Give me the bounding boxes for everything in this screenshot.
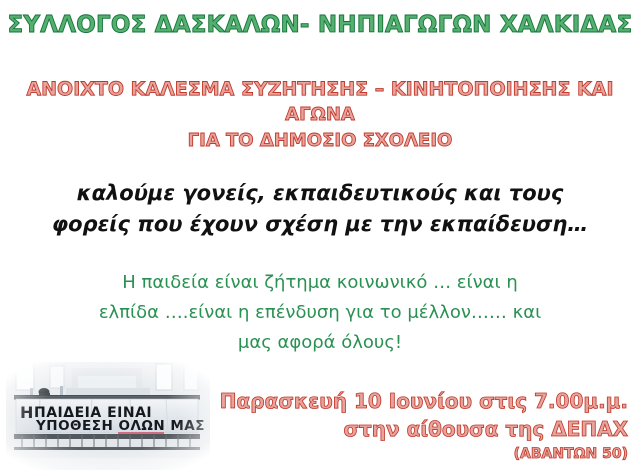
statement-text: Η παιδεία είναι ζήτημα κοινωνικό … είναι…	[0, 268, 640, 358]
event-venue: στην αίθουσα της ΔΕΠΑΧ	[208, 415, 628, 443]
event-details: Παρασκευή 10 Ιουνίου στις 7.00μ.μ. στην …	[208, 388, 628, 465]
organization-title: ΣΥΛΛΟΓΟΣ ΔΑΣΚΑΛΩΝ- ΝΗΠΙΑΓΩΓΩΝ ΧΑΛΚΙΔΑΣ	[0, 12, 640, 38]
statement-line-3: μας αφορά όλους!	[0, 328, 640, 358]
protest-banner-photo: Η ΠΑΙΔΕΙΑ ΕΙΝΑΙ ΥΠΟΘΕΣΗ ΟΛΩΝ ΜΑΣ	[6, 362, 210, 470]
invitation-line-1: καλούμε γονείς, εκπαιδευτικούς και τους	[0, 178, 640, 209]
statement-line-2: ελπίδα ….είναι η επένδυση για το μέλλον……	[0, 298, 640, 328]
svg-text:Η: Η	[20, 403, 33, 422]
protest-banner-photo-graphic: Η ΠΑΙΔΕΙΑ ΕΙΝΑΙ ΥΠΟΘΕΣΗ ΟΛΩΝ ΜΑΣ	[6, 362, 210, 470]
call-to-action-line-3: ΓΙΑ ΤΟ ΔΗΜΟΣΙΟ ΣΧΟΛΕΙΟ	[0, 128, 640, 154]
poster-root: ΣΥΛΛΟΓΟΣ ΔΑΣΚΑΛΩΝ- ΝΗΠΙΑΓΩΓΩΝ ΧΑΛΚΙΔΑΣ Α…	[0, 0, 640, 476]
call-to-action-line-2: ΑΓΩΝΑ	[0, 102, 640, 128]
call-to-action-block: ΑΝΟΙΧΤΟ ΚΑΛΕΣΜΑ ΣΥΖΗΤΗΣΗΣ – ΚΙΝΗΤΟΠΟΙΗΣΗ…	[0, 76, 640, 154]
invitation-text: καλούμε γονείς, εκπαιδευτικούς και τους …	[0, 178, 640, 240]
statement-line-1: Η παιδεία είναι ζήτημα κοινωνικό … είναι…	[0, 268, 640, 298]
invitation-line-2: φορείς που έχουν σχέση με την εκπαίδευση…	[0, 209, 640, 240]
call-to-action-line-1: ΑΝΟΙΧΤΟ ΚΑΛΕΣΜΑ ΣΥΖΗΤΗΣΗΣ – ΚΙΝΗΤΟΠΟΙΗΣΗ…	[0, 76, 640, 102]
event-address: (ΑΒΑΝΤΩΝ 50)	[208, 443, 628, 465]
event-date: Παρασκευή 10 Ιουνίου στις 7.00μ.μ.	[208, 388, 628, 415]
svg-text:ΥΠΟΘΕΣΗ ΟΛΩΝ ΜΑΣ: ΥΠΟΘΕΣΗ ΟΛΩΝ ΜΑΣ	[35, 418, 205, 434]
